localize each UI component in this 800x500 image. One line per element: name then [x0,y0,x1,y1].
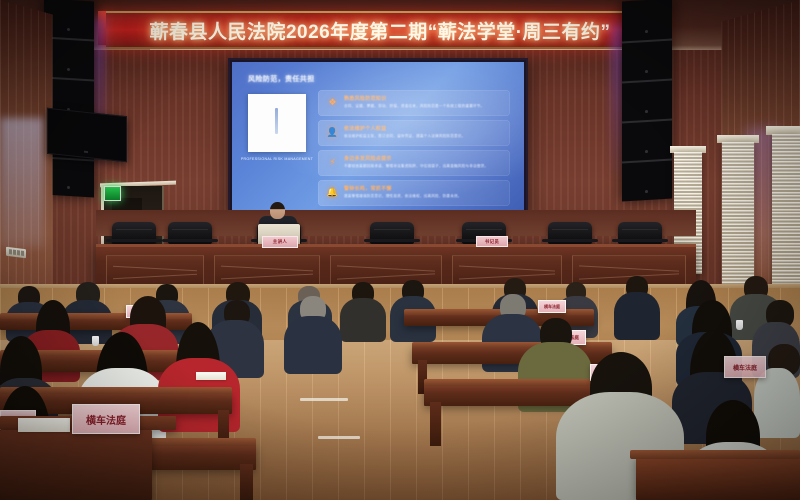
bench-chair-arm [106,239,162,242]
slide-card-heading: 警钟长鸣，常抓不懈 [344,185,392,192]
courtroom-scene: 蕲春县人民法院2026年度第二期“蕲法学堂·周三有约” 风险防范，责任共担 PR… [0,0,800,500]
bolt-icon: ⚡ [326,156,339,169]
slide-thumbnail-caption: PROFESSIONAL RISK MANAGEMENT [240,157,314,162]
desk-plaque: 横车法庭 [724,356,766,378]
front-desk-right [636,456,800,500]
exit-sign-icon [104,186,121,201]
projection-screen-frame: 风险防范，责任共担 PROFESSIONAL RISK MANAGEMENT ❖… [228,58,528,214]
slide-card-heading: 身边多发风险点提示 [344,155,392,162]
window-blind-2[interactable] [722,142,754,288]
person-icon: 👤 [326,126,339,139]
bell-icon: 🔔 [326,186,339,199]
window-blind-3[interactable] [772,134,800,294]
document-paper [196,372,226,380]
shield-icon: ❖ [326,96,339,109]
floor-marker [318,436,360,439]
led-banner: 蕲春县人民法院2026年度第二期“蕲法学堂·周三有约” [106,11,654,49]
slide-card-body: 不要轻信高额回报承诺，警惕非法集资陷阱，守住钱袋子，远离金融风险与非法借贷。 [344,164,504,169]
slide-card-body: 依法维护权益主张，签订合同，留存凭证，提高个人法律风险防范意识。 [344,134,504,139]
slide-card: 🔔 警钟长鸣，常抓不懈 提高警惕增强防范意识，理性投资，依法维权，远离风险，防患… [318,180,510,206]
slide-thumbnail [248,94,306,152]
slide-card-body: 提高警惕增强防范意识，理性投资，依法维权，远离风险，防患未然。 [344,194,504,199]
slide-card: ❖ 熟悉风险防范知识 合同、证据、票据、劳动、担保、资金往来，风险防范是一个系统… [318,90,510,116]
bench-chair-arm [542,239,598,242]
slide-card-heading: 依法维护个人权益 [344,125,386,132]
bench-chair-arm [612,239,668,242]
speaker-person-head [270,202,285,219]
slide-card: ⚡ 身边多发风险点提示 不要轻信高额回报承诺，警惕非法集资陷阱，守住钱袋子，远离… [318,150,510,176]
projection-screen: 风险防范，责任共担 PROFESSIONAL RISK MANAGEMENT ❖… [232,62,524,210]
bench-chair-arm [364,239,420,242]
bench-chair-arm [162,239,218,242]
speaker-stack-right [622,0,672,202]
slide-title: 风险防范，责任共担 [248,74,315,84]
paper-cup [92,336,99,346]
front-desk-right-top [630,450,800,459]
slide-card: 👤 依法维护个人权益 依法维护权益主张，签订合同，留存凭证，提高个人法律风险防范… [318,120,510,146]
wall-monitor [47,108,127,162]
nameplate-clerk: 书记员 [476,236,508,247]
slide-card-heading: 熟悉风险防范知识 [344,95,386,102]
slide-card-body: 合同、证据、票据、劳动、担保、资金往来，风险防范是一个系统工程的重要环节。 [344,104,504,109]
document-paper [18,418,70,432]
paper-cup [736,320,743,330]
nameplate-speaker: 主讲人 [262,236,298,248]
floor-marker [300,398,348,401]
desk-plaque: 横车法庭 [538,300,566,313]
banner-text: 蕲春县人民法院2026年度第二期“蕲法学堂·周三有约” [149,17,610,44]
slide-card-list: ❖ 熟悉风险防范知识 合同、证据、票据、劳动、担保、资金往来，风险防范是一个系统… [318,90,510,210]
desk-plaque-hengche-court: 横车法庭 [72,404,140,434]
left-wall-light-reflection [0,118,44,248]
front-desk [0,430,152,500]
